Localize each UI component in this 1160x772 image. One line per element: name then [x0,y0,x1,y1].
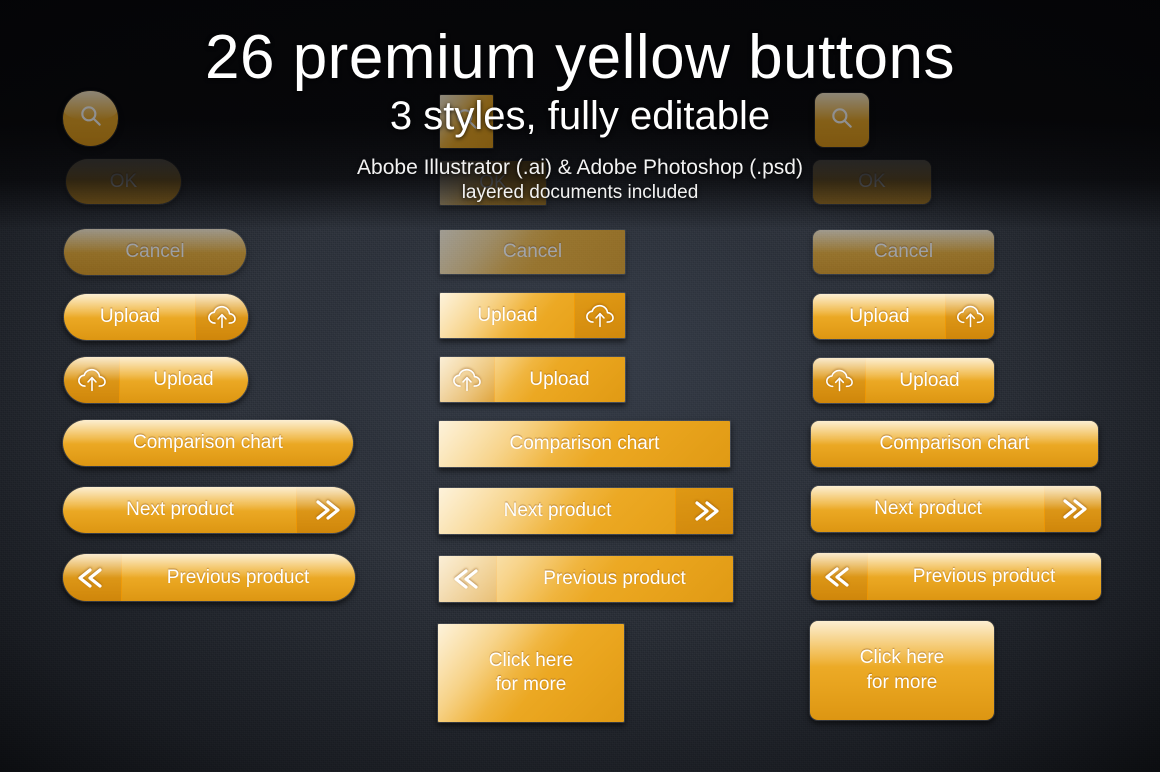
double-chevron-left-icon [63,554,121,601]
button-label-line1: Click here [860,646,944,670]
button-label: Cancel [874,241,933,263]
cancel-button-pill[interactable]: Cancel [63,228,247,276]
previous-product-button-pill[interactable]: Previous product [62,553,356,602]
button-label-line2: for more [496,673,567,697]
button-label: Previous product [543,568,686,590]
double-chevron-right-icon [297,487,355,533]
cancel-button-rounded[interactable]: Cancel [812,229,995,275]
poster-canvas: OK Cancel Upload Upload [0,0,1160,772]
button-label: Previous product [167,567,310,589]
page-title: 26 premium yellow buttons [0,26,1160,89]
button-label: Comparison chart [133,432,283,454]
button-label: Upload [477,305,537,327]
cloud-upload-icon [196,294,248,340]
upload-button-icon-right-pill[interactable]: Upload [63,293,249,341]
button-label: Next product [504,500,612,522]
button-label: Upload [529,369,589,391]
button-label: Comparison chart [880,433,1030,455]
double-chevron-right-icon [1045,486,1101,532]
page-subtitle: 3 styles, fully editable [0,95,1160,137]
previous-product-button-square[interactable]: Previous product [438,555,734,603]
click-here-for-more-button-square[interactable]: Click here for more [437,623,625,723]
comparison-chart-button-square[interactable]: Comparison chart [438,420,731,468]
upload-button-icon-left-square[interactable]: Upload [439,356,626,403]
cloud-upload-icon [813,358,865,403]
next-product-button-rounded[interactable]: Next product [810,485,1102,533]
cloud-upload-icon [64,357,119,403]
button-label-line2: for more [867,671,938,695]
cancel-button-square[interactable]: Cancel [439,229,626,275]
cloud-upload-icon [946,294,994,339]
upload-button-icon-right-square[interactable]: Upload [439,292,626,339]
button-label: Cancel [125,241,184,263]
comparison-chart-button-rounded[interactable]: Comparison chart [810,420,1099,468]
upload-button-icon-left-pill[interactable]: Upload [63,356,249,404]
button-label: Previous product [913,566,1056,588]
button-label: Upload [899,370,959,392]
next-product-button-square[interactable]: Next product [438,487,734,535]
button-label: Upload [153,369,213,391]
button-label: Cancel [503,241,562,263]
button-label: Comparison chart [510,433,660,455]
click-here-for-more-button-rounded[interactable]: Click here for more [809,620,995,721]
upload-button-icon-right-rounded[interactable]: Upload [812,293,995,340]
double-chevron-left-icon [439,556,496,602]
double-chevron-right-icon [676,488,733,534]
next-product-button-pill[interactable]: Next product [62,486,356,534]
double-chevron-left-icon [811,553,867,600]
cloud-upload-icon [575,293,625,338]
button-label: Upload [849,306,909,328]
button-label: Next product [126,499,234,521]
description-line-2: layered documents included [0,181,1160,204]
previous-product-button-rounded[interactable]: Previous product [810,552,1102,601]
description-line-1: Abobe Illustrator (.ai) & Adobe Photosho… [0,155,1160,181]
comparison-chart-button-pill[interactable]: Comparison chart [62,419,354,467]
button-label: Next product [874,498,982,520]
upload-button-icon-left-rounded[interactable]: Upload [812,357,995,404]
button-label-line1: Click here [489,649,573,673]
cloud-upload-icon [440,357,494,402]
headline-block: 26 premium yellow buttons 3 styles, full… [0,26,1160,204]
button-label: Upload [100,306,160,328]
